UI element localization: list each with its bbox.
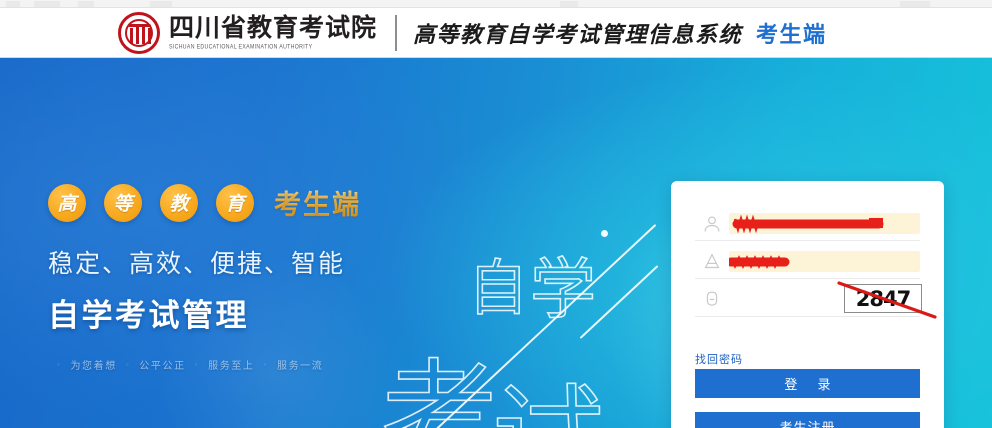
register-button[interactable]: 考生注册 xyxy=(695,412,920,428)
redaction-scribble xyxy=(729,251,889,272)
header-inner: 四川省教育考试院 SICHUAN EDUCATIONAL EXAMINATION… xyxy=(118,12,827,54)
watermark-char-xue: 学 xyxy=(530,236,596,332)
password-redacted-value xyxy=(729,251,920,272)
logo-text-cn: 四川省教育考试院 xyxy=(169,15,377,41)
header-divider xyxy=(395,15,397,51)
logo-text-en: SICHUAN EDUCATIONAL EXAMINATION AUTHORIT… xyxy=(169,44,377,51)
login-card: S xyxy=(671,181,944,428)
hero-badge-row: 高 等 教 育 考生端 xyxy=(48,183,448,222)
system-title: 高等教育自学考试管理信息系统 xyxy=(413,17,742,49)
captcha-code: 2847 xyxy=(856,287,910,311)
forgot-password-link[interactable]: 找回密码 xyxy=(695,351,743,368)
hero-subnote-item: 服务至上 xyxy=(208,357,254,372)
hero-subnote-item: 为您着想 xyxy=(70,357,116,372)
watermark-diagonal-line xyxy=(580,265,659,339)
username-field-row[interactable]: S xyxy=(695,207,920,241)
hero-badge: 高 xyxy=(48,184,86,222)
chrome-ghost-item xyxy=(560,1,578,7)
chrome-ghost-item xyxy=(34,1,60,7)
hero-badge: 教 xyxy=(160,184,198,222)
chrome-ghost-item xyxy=(150,1,172,7)
captcha-field-row[interactable]: 2847 xyxy=(695,283,920,317)
username-redacted-value: S xyxy=(729,213,920,234)
system-tag: 考生端 xyxy=(756,17,827,49)
captcha-image[interactable]: 2847 xyxy=(844,284,922,313)
subnote-separator: ◦ xyxy=(264,360,268,369)
browser-chrome-strip xyxy=(0,0,992,8)
hero-tagline: 稳定、高效、便捷、智能 xyxy=(48,244,448,280)
sichuan-exam-authority-seal-icon xyxy=(118,12,160,54)
watermark-diagonal-line xyxy=(436,224,657,428)
hero-banner: 自 学 考 试 高 等 教 育 xyxy=(0,58,992,428)
hero-badge-word: 考生端 xyxy=(274,183,361,222)
hero-badge-char: 育 xyxy=(225,189,244,216)
hero-badge: 等 xyxy=(104,184,142,222)
hero-subnote-item: 公平公正 xyxy=(139,357,185,372)
username-input[interactable]: S xyxy=(729,213,920,235)
password-field-row[interactable] xyxy=(695,245,920,279)
hero-copy: 高 等 教 育 考生端 稳定、高效、便捷、智能 自学考试管理 ◦ 为您着想 ◦ xyxy=(48,183,448,372)
hero-badge: 育 xyxy=(216,184,254,222)
shield-icon xyxy=(695,289,729,311)
subnote-separator: ◦ xyxy=(195,360,199,369)
subnote-separator: ◦ xyxy=(57,360,61,369)
hero-headline: 自学考试管理 xyxy=(48,290,448,335)
watermark-dot xyxy=(601,230,608,237)
chrome-ghost-item xyxy=(78,1,94,7)
chrome-ghost-item xyxy=(900,1,930,7)
lock-icon xyxy=(695,251,729,273)
hero-badge-char: 教 xyxy=(169,189,188,216)
site-header: 四川省教育考试院 SICHUAN EDUCATIONAL EXAMINATION… xyxy=(0,8,992,58)
hero-subnote-row: ◦ 为您着想 ◦ 公平公正 ◦ 服务至上 ◦ 服务一流 xyxy=(48,357,448,372)
watermark-char-zi: 自 xyxy=(468,240,528,327)
login-button[interactable]: 登 录 xyxy=(695,369,920,398)
subnote-separator: ◦ xyxy=(126,360,130,369)
hero-subnote-item: 服务一流 xyxy=(277,357,323,372)
logo-block: 四川省教育考试院 SICHUAN EDUCATIONAL EXAMINATION… xyxy=(169,15,377,49)
page-root: 四川省教育考试院 SICHUAN EDUCATIONAL EXAMINATION… xyxy=(0,0,992,428)
hero-badge-char: 高 xyxy=(57,189,76,216)
user-icon xyxy=(695,213,729,235)
watermark-char-shi: 试 xyxy=(492,348,604,428)
chrome-ghost-item xyxy=(6,1,20,7)
redaction-scribble xyxy=(729,213,889,234)
password-input[interactable] xyxy=(729,251,920,273)
hero-badge-char: 等 xyxy=(113,189,132,216)
